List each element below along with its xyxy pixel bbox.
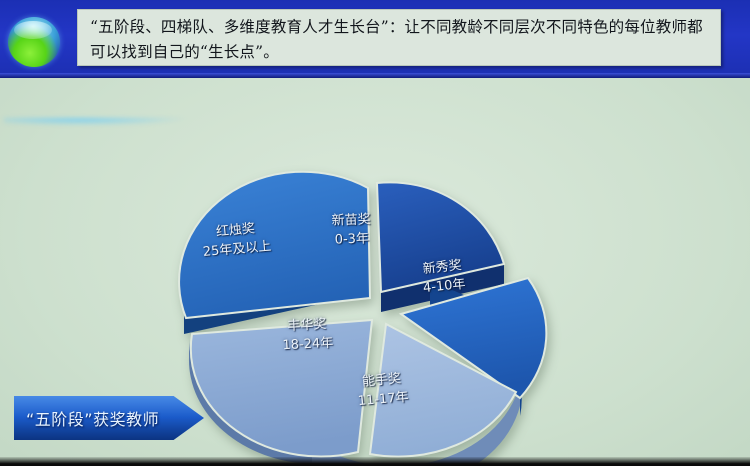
pie-chart-svg: [172, 166, 592, 456]
header-title-text: “五阶段、四梯队、多维度教育人才生长台”：让不同教龄不同层次不同特色的每位教师都…: [90, 15, 710, 65]
header-band: “五阶段、四梯队、多维度教育人才生长台”：让不同教龄不同层次不同特色的每位教师都…: [0, 0, 750, 78]
chart-title-banner: “五阶段”获奖教师: [14, 396, 204, 440]
slide-canvas: “五阶段、四梯队、多维度教育人才生长台”：让不同教龄不同层次不同特色的每位教师都…: [0, 0, 750, 466]
chart-title-banner-label: “五阶段”获奖教师: [14, 406, 204, 430]
pie-chart: 新苗奖 0-3年 新秀奖 4-10年 能手奖 11-17年 丰华奖 18-24年…: [172, 166, 592, 456]
slice-fenghua: [191, 320, 372, 457]
slide-body: 新苗奖 0-3年 新秀奖 4-10年 能手奖 11-17年 丰华奖 18-24年…: [0, 78, 750, 466]
globe-logo-icon: [8, 17, 60, 67]
header-textbox: “五阶段、四梯队、多维度教育人才生长台”：让不同教龄不同层次不同特色的每位教师都…: [77, 9, 721, 66]
banner-glow: [4, 118, 190, 126]
slice-hongzhu: [179, 172, 370, 318]
